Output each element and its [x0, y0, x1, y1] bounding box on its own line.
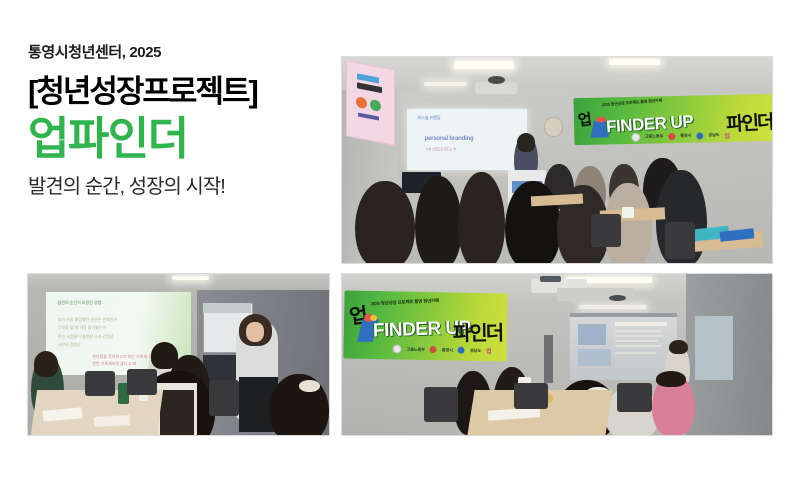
slide-accent-line: 한번 기록해보면 좋다고 봐: [92, 361, 136, 367]
logo-label: 업: [486, 346, 492, 355]
logo-label: 업: [725, 131, 731, 140]
logo-label: 고용노동부: [645, 133, 664, 139]
slide-body-line: 무엇을 할 때 가장 즐거웠는가: [58, 325, 107, 331]
slide-title: personal branding: [425, 136, 474, 142]
banner-up-text: 업: [577, 109, 592, 131]
banner-logo-row: 고용노동부 통영시 경남도 업: [631, 131, 730, 142]
logo-label: 통영시: [680, 133, 691, 139]
projection-screen: [570, 316, 678, 380]
slide-header: 퍼스널 브랜딩: [417, 115, 440, 121]
logo-label: 고용노동부: [407, 346, 426, 352]
banner-top-line: 2025 청년성장 프로젝트 통영 청년카페: [371, 298, 440, 307]
slide-subtitle: 나를 브랜드로 만드는 법: [426, 147, 456, 151]
banner-korean: 파인더: [453, 317, 503, 347]
headline-block: 통영시청년센터, 2025 [청년성장프로젝트] 업파인더 발견의 순간, 성장…: [28, 44, 328, 199]
eyebrow-text: 통영시청년센터, 2025: [28, 44, 328, 62]
banner-logo-row: 고용노동부 통영시 경남도 업: [393, 344, 492, 355]
logo-label: 통영시: [442, 347, 453, 353]
photo-workshop-discussion: 발견의 순간이 되었던 경험 내가 가장 몰입했던 순간은 언제인가 무엇을 할…: [27, 273, 330, 436]
event-banner: 2025 청년성장 프로젝트 통영 청년카페 업 FINDER UP 파인더 고…: [344, 290, 509, 361]
slide-body-line: 내가 가장 몰입했던 순간은 언제인가: [58, 317, 118, 323]
page-title: [청년성장프로젝트]: [28, 76, 328, 109]
wall-poster: [346, 60, 395, 146]
poster-canvas: 통영시청년센터, 2025 [청년성장프로젝트] 업파인더 발견의 순간, 성장…: [0, 0, 800, 480]
photo-lecture-hall: 퍼스널 브랜딩 personal branding 나를 브랜드로 만드는 법 …: [341, 56, 773, 264]
projection-screen: 퍼스널 브랜딩 personal branding 나를 브랜드로 만드는 법: [407, 109, 527, 171]
brand-title: 업파인더: [28, 115, 328, 164]
event-banner: 2025 청년성장 프로젝트 통영 청년카페 업 FINDER UP 파인더 고…: [574, 94, 773, 146]
slide-body-line: 나만의 강점은: [58, 342, 81, 348]
logo-label: 경남도: [470, 347, 481, 353]
banner-korean: 파인더: [725, 108, 773, 138]
subtitle-text: 발견의 순간, 성장의 시작!: [28, 175, 328, 199]
logo-label: 경남도: [708, 132, 719, 138]
slide-body-line: 주변 사람들이 칭찬한 나의 강점은: [58, 334, 114, 340]
banner-top-line: 2025 청년성장 프로젝트 통영 청년카페: [602, 98, 663, 109]
slide-header: 발견의 순간이 되었던 경험: [58, 300, 102, 306]
photo-seminar-room: 2025 청년성장 프로젝트 통영 청년카페 업 FINDER UP 파인더 고…: [341, 273, 773, 436]
